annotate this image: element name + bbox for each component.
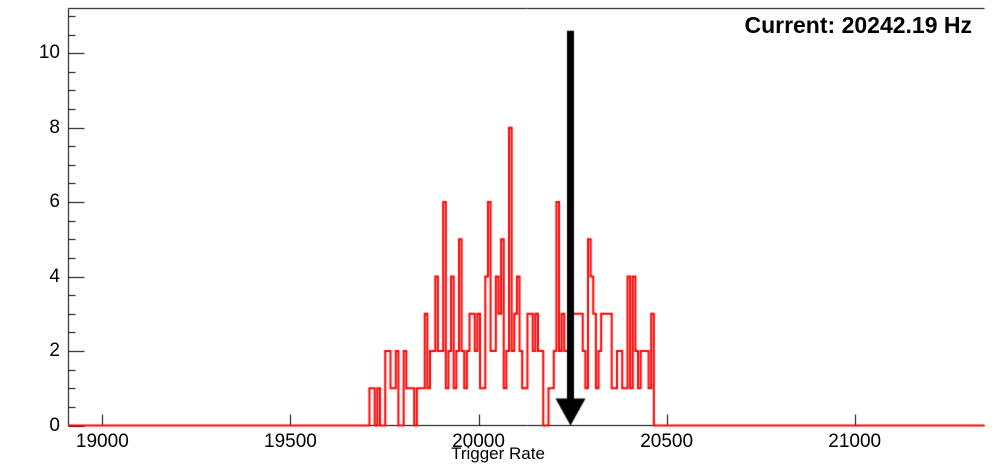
histogram-plot-panel: Current: 20242.19 Hz Trigger Rate 190001…	[0, 0, 996, 472]
y-axis-tick-label: 2	[22, 340, 60, 362]
x-axis-tick-label: 20500	[640, 431, 693, 453]
y-axis-tick-label: 6	[22, 191, 60, 213]
x-axis-tick-label: 21000	[828, 431, 881, 453]
y-axis-tick-label: 8	[22, 117, 60, 139]
x-axis-tick-label: 19000	[76, 431, 129, 453]
x-axis-tick-label: 19500	[264, 431, 317, 453]
y-axis-tick-label: 0	[22, 415, 60, 437]
current-rate-label: Current: 20242.19 Hz	[744, 12, 972, 39]
y-axis-tick-label: 10	[22, 42, 60, 64]
y-axis-tick-label: 4	[22, 266, 60, 288]
trigger-rate-histogram-canvas[interactable]	[0, 0, 996, 472]
x-axis-tick-label: 20000	[452, 431, 505, 453]
